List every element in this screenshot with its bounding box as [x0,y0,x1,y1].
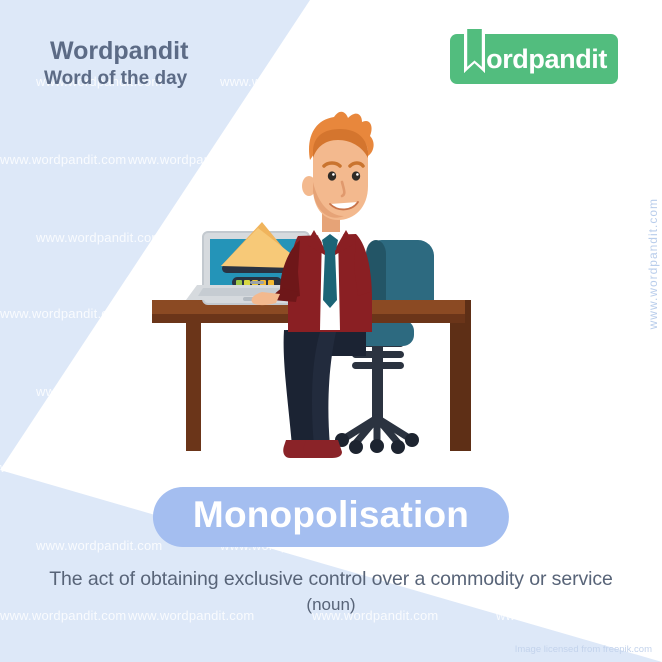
image-credit: Image licensed from freepik.com [515,644,652,655]
vertical-watermark: www.wordpandit.com [646,198,660,329]
logo-text: ordpandit [486,46,607,73]
bookmark-w-icon [464,29,485,73]
word-of-the-day-card: www.wordpandit.comwww.wordpandit.comwww.… [0,0,662,662]
brand-block: Wordpandit Word of the day [44,38,188,89]
part-of-speech: (noun) [0,595,662,615]
word-term: Monopolisation [193,496,469,535]
brand-title: Wordpandit [50,38,188,66]
word-badge: Monopolisation [153,487,509,547]
definition-text: The act of obtaining exclusive control o… [0,568,662,591]
brand-subtitle: Word of the day [44,69,188,90]
wordpandit-logo[interactable]: ordpandit [450,34,618,84]
